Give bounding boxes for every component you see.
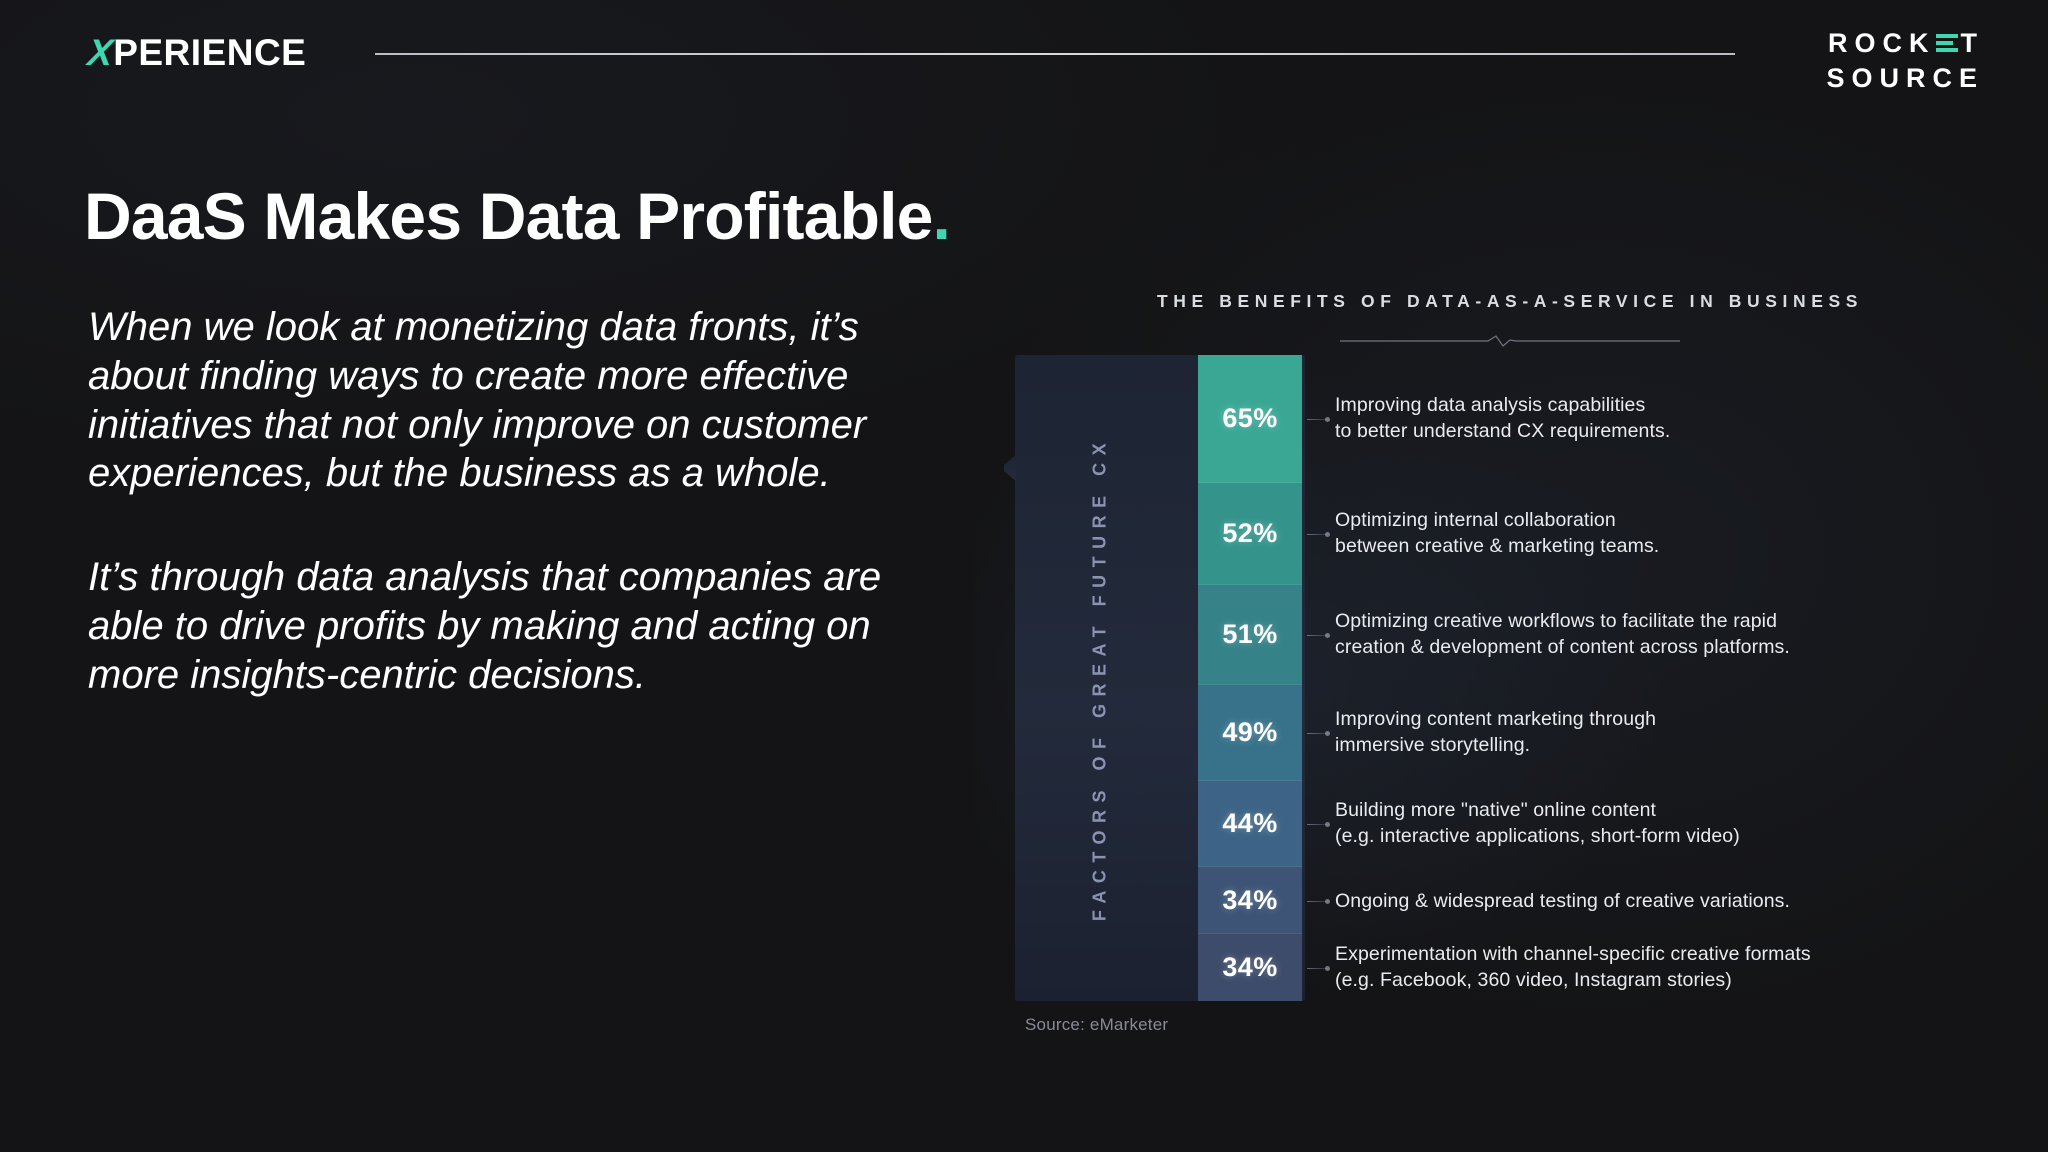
benefit-line-primary: Experimentation with channel-specific cr… — [1335, 941, 1945, 967]
bar-segment: 65% — [1198, 355, 1302, 483]
rocket-source-logo: ROCKT SOURCE — [1826, 26, 1984, 95]
benefit-line-secondary: creation & development of content across… — [1335, 634, 1945, 660]
slide-canvas: XPERIENCE ROCKT SOURCE DaaS Makes Data P… — [0, 0, 2048, 1152]
chart-source-note: Source: eMarketer — [1025, 1015, 1168, 1035]
benefit-line-secondary: immersive storytelling. — [1335, 732, 1945, 758]
benefit-line-secondary: to better understand CX requirements. — [1335, 418, 1945, 444]
benefit-line-primary: Optimizing creative workflows to facilit… — [1335, 608, 1945, 634]
bar-connector-line — [1307, 419, 1329, 420]
bar-connector-line — [1307, 968, 1329, 969]
rocket-text-pre: ROCK — [1828, 28, 1936, 58]
infographic-title: THE BENEFITS OF DATA-AS-A-SERVICE IN BUS… — [1080, 291, 1940, 312]
benefit-item: Improving content marketing throughimmer… — [1335, 706, 1945, 759]
rocket-e-bars-icon — [1936, 34, 1958, 53]
page-title-accent-dot: . — [933, 179, 951, 253]
bar-value-label: 49% — [1222, 717, 1277, 748]
bar-segment: 52% — [1198, 483, 1302, 585]
bar-connector-line — [1307, 824, 1329, 825]
bar-segment: 34% — [1198, 934, 1302, 1001]
xperience-wordmark: PERIENCE — [113, 32, 306, 74]
body-copy: When we look at monetizing data fronts, … — [88, 303, 918, 700]
infographic-divider-icon — [1340, 334, 1680, 348]
benefit-item: Optimizing creative workflows to facilit… — [1335, 608, 1945, 661]
stacked-bar-chart: 65%52%51%49%44%34%34% — [1198, 355, 1302, 1001]
infographic: THE BENEFITS OF DATA-AS-A-SERVICE IN BUS… — [995, 255, 1995, 1115]
benefit-item: Building more "native" online content(e.… — [1335, 797, 1945, 850]
benefit-item: Ongoing & widespread testing of creative… — [1335, 888, 1945, 914]
rocket-source-line-two: SOURCE — [1826, 61, 1984, 96]
bar-value-label: 65% — [1222, 403, 1277, 434]
bar-value-label: 44% — [1222, 808, 1277, 839]
benefit-line-secondary: between creative & marketing teams. — [1335, 533, 1945, 559]
rocket-text-post: T — [1961, 28, 1985, 58]
benefit-item: Experimentation with channel-specific cr… — [1335, 941, 1945, 994]
page-title-text: DaaS Makes Data Profitable — [84, 179, 933, 253]
bar-connector-line — [1307, 635, 1329, 636]
benefit-line-primary: Improving data analysis capabilities — [1335, 392, 1945, 418]
benefit-line-secondary: (e.g. Facebook, 360 video, Instagram sto… — [1335, 967, 1945, 993]
benefit-item: Optimizing internal collaborationbetween… — [1335, 507, 1945, 560]
slide-header: XPERIENCE ROCKT SOURCE — [0, 0, 2048, 110]
bar-segment: 44% — [1198, 781, 1302, 867]
benefit-line-primary: Improving content marketing through — [1335, 706, 1945, 732]
chart-axis-label: FACTORS OF GREAT FUTURE CX — [1090, 369, 1111, 989]
paragraph-spacer — [88, 498, 918, 553]
bar-segment: 34% — [1198, 867, 1302, 934]
bar-connector-line — [1307, 534, 1329, 535]
xperience-x-icon: X — [86, 32, 115, 74]
page-title: DaaS Makes Data Profitable. — [84, 178, 950, 254]
panel-notch-icon — [1004, 455, 1016, 481]
bar-segment: 51% — [1198, 585, 1302, 685]
benefit-item: Improving data analysis capabilitiesto b… — [1335, 392, 1945, 445]
xperience-logo: XPERIENCE — [88, 32, 306, 74]
bar-connector-line — [1307, 733, 1329, 734]
bar-value-label: 51% — [1222, 619, 1277, 650]
bar-value-label: 52% — [1222, 518, 1277, 549]
body-paragraph-1: When we look at monetizing data fronts, … — [88, 303, 918, 498]
bar-segment: 49% — [1198, 685, 1302, 781]
bar-value-label: 34% — [1222, 885, 1277, 916]
body-paragraph-2: It’s through data analysis that companie… — [88, 553, 918, 699]
benefit-line-primary: Building more "native" online content — [1335, 797, 1945, 823]
rocket-source-line-one: ROCKT — [1826, 26, 1984, 61]
header-divider-rule — [375, 53, 1735, 55]
benefit-line-secondary: (e.g. interactive applications, short-fo… — [1335, 823, 1945, 849]
benefit-line-primary: Optimizing internal collaboration — [1335, 507, 1945, 533]
bar-connector-line — [1307, 901, 1329, 902]
benefit-line-primary: Ongoing & widespread testing of creative… — [1335, 888, 1945, 914]
bar-value-label: 34% — [1222, 952, 1277, 983]
